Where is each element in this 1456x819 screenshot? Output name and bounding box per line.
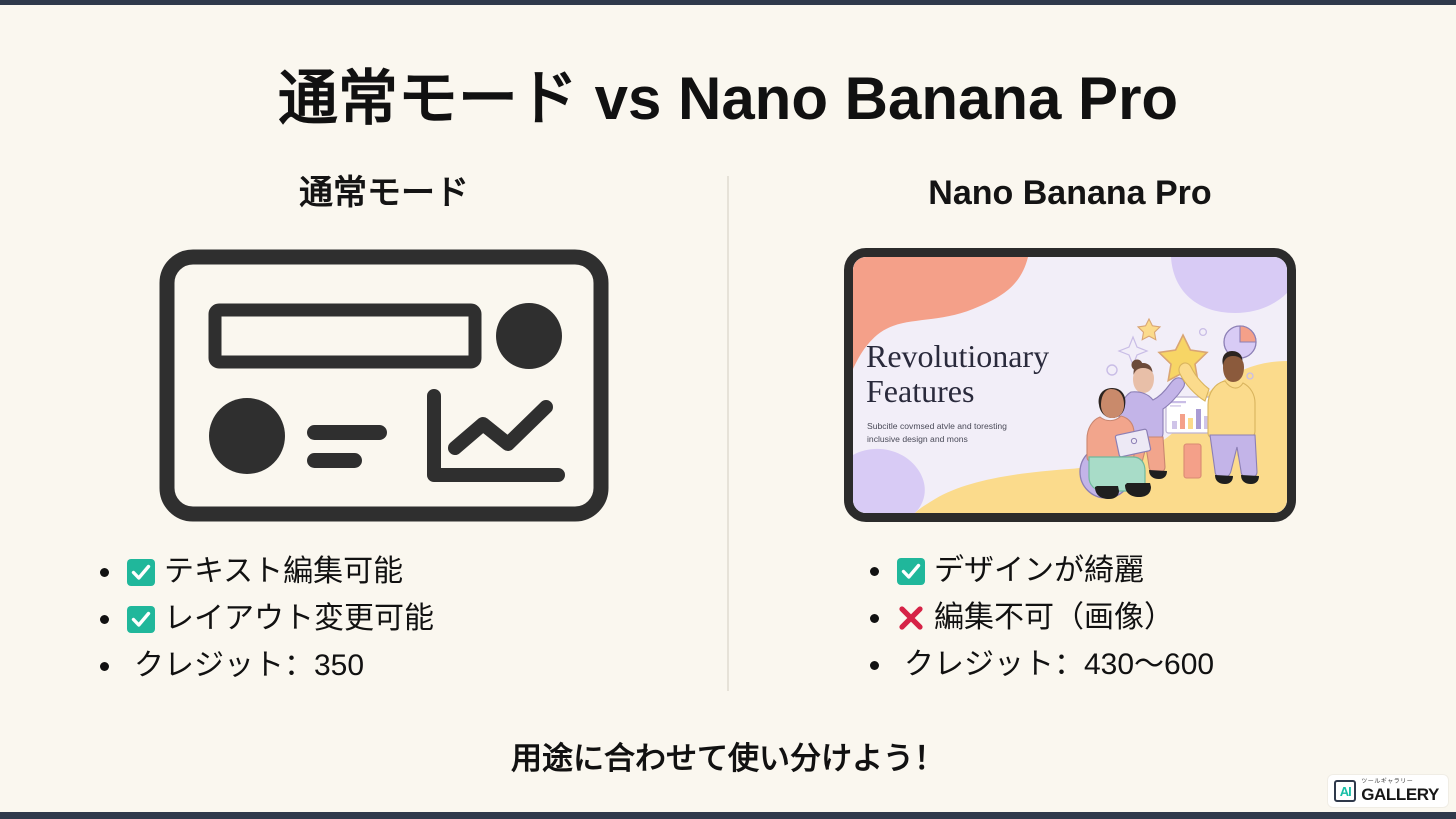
- footer-note: 用途に合わせて使い分けよう！: [0, 733, 1456, 778]
- wireframe-card-icon: [158, 248, 610, 523]
- cross-mark-icon: [896, 603, 926, 633]
- top-edge-bar: [0, 0, 1456, 5]
- bullet-text: クレジット：430〜600: [904, 642, 1214, 688]
- bullet-dot: [870, 661, 879, 670]
- column-heading-right: Nano Banana Pro: [750, 172, 1390, 220]
- svg-text:Revolutionary: Revolutionary: [866, 338, 1049, 374]
- bullet-list-right: デザインが綺麗 編集不可（画像） クレジット：430〜600: [870, 548, 1390, 688]
- bullet-text: デザインが綺麗: [934, 548, 1144, 594]
- ai-badge-icon: AI: [1334, 780, 1356, 802]
- bullet-dot: [100, 662, 109, 671]
- bottom-edge-bar: [0, 812, 1456, 819]
- check-mark-icon: [126, 557, 156, 587]
- list-item: 編集不可（画像）: [870, 595, 1390, 641]
- page-title: 通常モード vs Nano Banana Pro: [0, 50, 1456, 137]
- svg-text:Subcitle covmsed atvle and tor: Subcitle covmsed atvle and toresting: [867, 421, 1007, 431]
- check-mark-icon: [896, 556, 926, 586]
- slide-artwork: Revolutionary Features Subcitle covmsed …: [853, 257, 1287, 513]
- list-item: テキスト編集可能: [100, 549, 704, 595]
- bullet-dot: [100, 615, 109, 624]
- bullet-dot: [100, 568, 109, 577]
- bullet-text: 編集不可（画像）: [934, 595, 1174, 641]
- column-standard-mode: 通常モード テキスト編集可能 レイア: [64, 172, 704, 705]
- bullet-text: レイアウト変更可能: [164, 596, 434, 642]
- bullet-list-left: テキスト編集可能 レイアウト変更可能 クレジット：350: [100, 549, 704, 689]
- column-divider: [727, 176, 729, 691]
- list-item: クレジット：430〜600: [870, 642, 1390, 688]
- column-heading-left: 通常モード: [64, 172, 704, 220]
- bullet-text: テキスト編集可能: [164, 549, 403, 595]
- bullet-text: クレジット：350: [134, 643, 364, 689]
- wireframe-card-wrapper: [64, 248, 704, 523]
- slide-preview-wrapper: Revolutionary Features Subcitle covmsed …: [750, 248, 1390, 522]
- list-item: デザインが綺麗: [870, 548, 1390, 594]
- list-item: レイアウト変更可能: [100, 596, 704, 642]
- svg-text:inclusive design and mons: inclusive design and mons: [867, 434, 968, 444]
- column-nano-banana-pro: Nano Banana Pro Revolutionary Features: [750, 172, 1390, 704]
- check-mark-icon: [126, 604, 156, 634]
- bullet-dot: [870, 614, 879, 623]
- bullet-dot: [870, 567, 879, 576]
- list-item: クレジット：350: [100, 643, 704, 689]
- presentation-slide-preview: Revolutionary Features Subcitle covmsed …: [844, 248, 1296, 522]
- logo-name-text: GALLERY: [1361, 786, 1439, 803]
- svg-text:Features: Features: [866, 373, 974, 409]
- brand-logo: AI ツールギャラリー GALLERY: [1328, 775, 1448, 807]
